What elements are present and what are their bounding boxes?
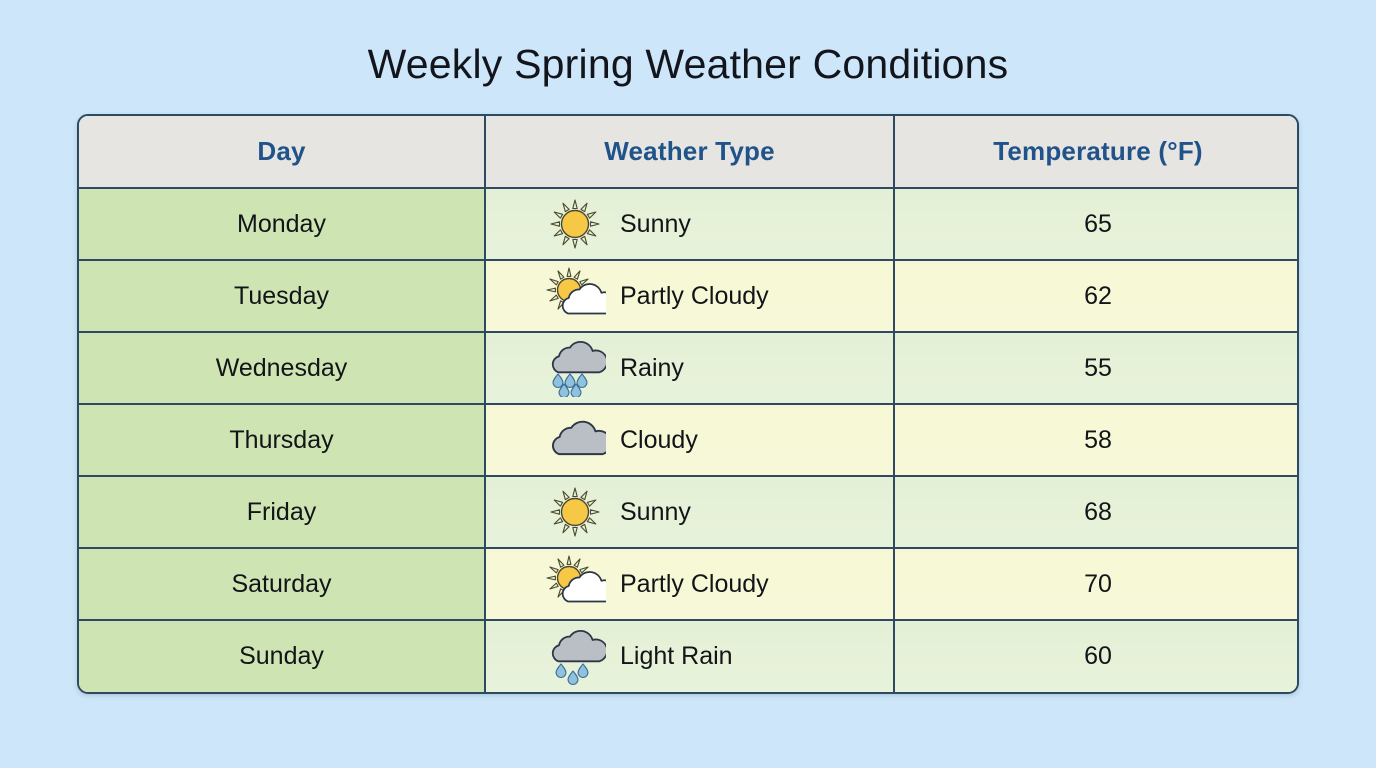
weather-cell-inner: Sunny <box>486 195 893 253</box>
column-header-temperature: Temperature (°F) <box>894 116 1299 188</box>
weather-type-label: Sunny <box>620 498 691 527</box>
sun-icon <box>544 195 606 253</box>
sun-behind-cloud-icon <box>544 267 606 325</box>
table-row: Tuesday Partly Cloudy 62 <box>79 260 1299 332</box>
table-row: Sunday Light Rain 60 <box>79 620 1299 692</box>
cell-day: Tuesday <box>79 260 485 332</box>
table-body: Monday Sunny 65Tuesday Partly Cloudy 62W… <box>79 188 1299 692</box>
weather-type-label: Partly Cloudy <box>620 570 769 599</box>
cell-day: Monday <box>79 188 485 260</box>
column-header-day: Day <box>79 116 485 188</box>
cell-temperature: 68 <box>894 476 1299 548</box>
cloud-icon <box>544 411 606 469</box>
cell-weather-type: Sunny <box>485 188 894 260</box>
cell-day: Wednesday <box>79 332 485 404</box>
table-row: Thursday Cloudy 58 <box>79 404 1299 476</box>
weather-table-container: Day Weather Type Temperature (°F) Monday… <box>77 114 1299 694</box>
cell-temperature: 60 <box>894 620 1299 692</box>
cell-day: Thursday <box>79 404 485 476</box>
weather-type-label: Partly Cloudy <box>620 282 769 311</box>
cell-weather-type: Partly Cloudy <box>485 260 894 332</box>
cell-day: Friday <box>79 476 485 548</box>
cell-temperature: 55 <box>894 332 1299 404</box>
cell-weather-type: Cloudy <box>485 404 894 476</box>
table-row: Wednesday Rainy 55 <box>79 332 1299 404</box>
weather-type-label: Light Rain <box>620 642 733 671</box>
cell-weather-type: Rainy <box>485 332 894 404</box>
weather-type-label: Sunny <box>620 210 691 239</box>
cell-day: Saturday <box>79 548 485 620</box>
cell-temperature: 65 <box>894 188 1299 260</box>
rain-cloud-icon <box>544 339 606 397</box>
cell-temperature: 70 <box>894 548 1299 620</box>
table-header: Day Weather Type Temperature (°F) <box>79 116 1299 188</box>
page-title: Weekly Spring Weather Conditions <box>368 40 1009 89</box>
weather-table: Day Weather Type Temperature (°F) Monday… <box>79 116 1299 692</box>
sun-behind-cloud-icon <box>544 555 606 613</box>
weather-cell-inner: Partly Cloudy <box>486 555 893 613</box>
weather-cell-inner: Sunny <box>486 483 893 541</box>
table-row: Saturday Partly Cloudy 70 <box>79 548 1299 620</box>
weather-cell-inner: Light Rain <box>486 628 893 686</box>
cell-weather-type: Partly Cloudy <box>485 548 894 620</box>
table-row: Friday Sunny 68 <box>79 476 1299 548</box>
column-header-weather-type: Weather Type <box>485 116 894 188</box>
weather-type-label: Cloudy <box>620 426 698 455</box>
header-row: Day Weather Type Temperature (°F) <box>79 116 1299 188</box>
cell-day: Sunday <box>79 620 485 692</box>
cell-weather-type: Light Rain <box>485 620 894 692</box>
light-rain-cloud-icon <box>544 628 606 686</box>
sun-icon <box>544 483 606 541</box>
cell-temperature: 58 <box>894 404 1299 476</box>
weather-type-label: Rainy <box>620 354 684 383</box>
weather-cell-inner: Cloudy <box>486 411 893 469</box>
weather-cell-inner: Partly Cloudy <box>486 267 893 325</box>
cell-weather-type: Sunny <box>485 476 894 548</box>
cell-temperature: 62 <box>894 260 1299 332</box>
table-row: Monday Sunny 65 <box>79 188 1299 260</box>
weather-cell-inner: Rainy <box>486 339 893 397</box>
